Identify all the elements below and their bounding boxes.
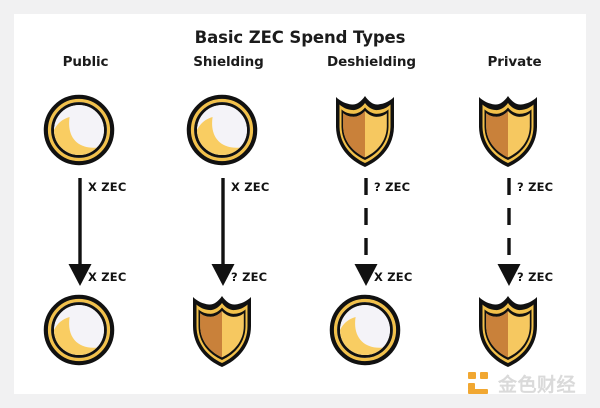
output-amount-label: X ZEC	[88, 270, 127, 284]
shield-icon	[328, 90, 402, 170]
shield-icon	[471, 90, 545, 170]
coin-icon-graphic	[328, 290, 402, 370]
page-title: Basic ZEC Spend Types	[14, 28, 586, 47]
shield-icon	[471, 290, 545, 370]
jinse-logo-icon	[466, 370, 492, 396]
watermark-text: 金色财经	[498, 370, 576, 397]
shield-icon-graphic	[471, 290, 545, 370]
output-amount-label: ? ZEC	[517, 270, 553, 284]
shield-icon-graphic	[328, 90, 402, 170]
watermark: 金色财经	[466, 366, 600, 400]
coin-icon	[42, 90, 116, 170]
column-header-shielding: Shielding	[157, 54, 300, 70]
shield-icon	[185, 290, 259, 370]
spend-type-column-shielding: Shielding X ZEC ? ZEC	[157, 54, 300, 394]
coin-icon-graphic	[42, 90, 116, 170]
output-amount-label: X ZEC	[374, 270, 413, 284]
column-header-private: Private	[443, 54, 586, 70]
coin-icon-graphic	[185, 90, 259, 170]
diagram-card: Basic ZEC Spend Types Public X ZEC X ZEC	[14, 14, 586, 394]
spend-type-column-deshielding: Deshielding ? ZEC X ZEC	[300, 54, 443, 394]
coin-icon	[185, 90, 259, 170]
spend-type-column-private: Private ? ZEC ? ZEC	[443, 54, 586, 394]
spend-type-column-public: Public X ZEC X ZEC	[14, 54, 157, 394]
coin-icon	[42, 290, 116, 370]
column-header-deshielding: Deshielding	[300, 54, 443, 70]
shield-icon-graphic	[185, 290, 259, 370]
coin-icon	[328, 290, 402, 370]
coin-icon-graphic	[42, 290, 116, 370]
shield-icon-graphic	[471, 90, 545, 170]
column-header-public: Public	[14, 54, 157, 70]
output-amount-label: ? ZEC	[231, 270, 267, 284]
